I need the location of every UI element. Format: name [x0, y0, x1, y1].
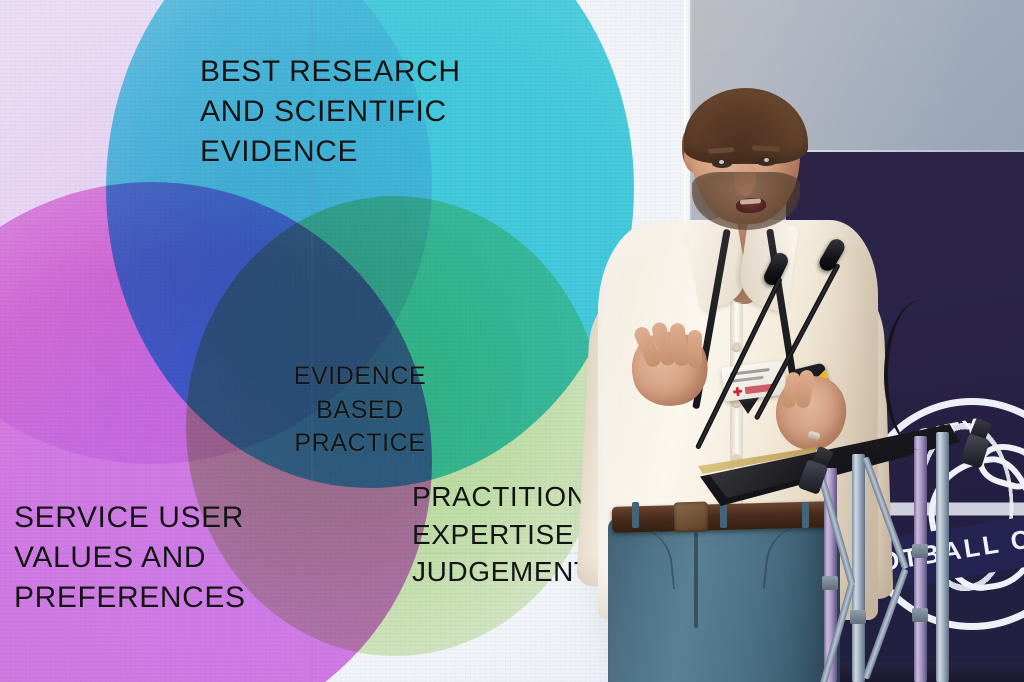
trouser-fly: [694, 532, 698, 628]
photo-scene: AM CITY FOOTBALL CLUB BEST RESEARCH AND …: [0, 0, 1024, 682]
shirt-button: [732, 342, 741, 351]
speaker-eye-highlight-left: [719, 160, 724, 164]
truss-node: [822, 576, 838, 590]
belt-loop: [632, 502, 639, 528]
truss-brace: [862, 456, 909, 569]
truss-post: [852, 454, 865, 682]
speaker-hair: [684, 88, 808, 164]
venn-label-evidence-based-practice: EVIDENCE BASED PRACTICE: [260, 360, 460, 461]
truss-post: [936, 432, 949, 682]
truss-brace: [862, 568, 908, 679]
venn-label-research: BEST RESEARCH AND SCIENTIFIC EVIDENCE: [200, 52, 540, 173]
truss-post: [914, 436, 927, 682]
truss-node: [912, 544, 928, 558]
badge-org-line: [731, 376, 764, 383]
truss-node: [850, 610, 866, 624]
mic-cable: [884, 300, 958, 450]
speaker-nose: [734, 162, 756, 196]
truss-node: [912, 608, 928, 622]
finger: [688, 330, 702, 368]
speaker-eye-highlight-right: [764, 158, 769, 162]
venn-label-service-user: SERVICE USER VALUES AND PREFERENCES: [14, 498, 294, 619]
